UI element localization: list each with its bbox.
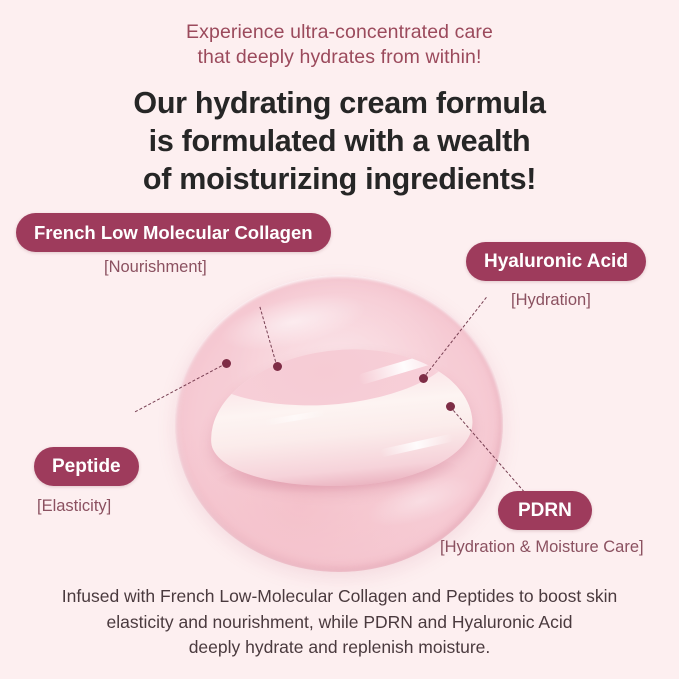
cream-swatch-illustration bbox=[170, 272, 510, 576]
body-copy-line-2: elasticity and nourishment, while PDRN a… bbox=[0, 610, 679, 636]
cream-gloss-highlight-3 bbox=[264, 410, 326, 426]
subheading-line-2: that deeply hydrates from within! bbox=[0, 45, 679, 70]
ingredient-benefit-peptide: [Elasticity] bbox=[37, 497, 111, 516]
cream-gloss-highlight-2 bbox=[380, 434, 454, 458]
connector-dot-collagen bbox=[273, 362, 282, 371]
body-copy: Infused with French Low-Molecular Collag… bbox=[0, 584, 679, 661]
connector-dot-hyaluronic bbox=[419, 374, 428, 383]
subheading-line-1: Experience ultra-concentrated care bbox=[0, 20, 679, 45]
ingredient-pill-hyaluronic-acid[interactable]: Hyaluronic Acid bbox=[466, 242, 646, 281]
body-copy-line-1: Infused with French Low-Molecular Collag… bbox=[0, 584, 679, 610]
headline-line-2: is formulated with a wealth bbox=[0, 122, 679, 160]
ingredient-benefit-collagen: [Nourishment] bbox=[104, 258, 207, 277]
headline: Our hydrating cream formula is formulate… bbox=[0, 84, 679, 198]
ingredient-pill-pdrn[interactable]: PDRN bbox=[498, 491, 592, 530]
ingredient-benefit-hyaluronic-acid: [Hydration] bbox=[511, 291, 591, 310]
headline-line-1: Our hydrating cream formula bbox=[0, 84, 679, 122]
connector-dot-peptide bbox=[222, 359, 231, 368]
ingredient-pill-peptide[interactable]: Peptide bbox=[34, 447, 139, 486]
ingredient-pill-collagen[interactable]: French Low Molecular Collagen bbox=[16, 213, 331, 252]
body-copy-line-3: deeply hydrate and replenish moisture. bbox=[0, 635, 679, 661]
connector-dot-pdrn bbox=[446, 402, 455, 411]
ingredient-benefit-pdrn: [Hydration & Moisture Care] bbox=[440, 538, 644, 557]
infographic-canvas: Experience ultra-concentrated care that … bbox=[0, 0, 679, 679]
headline-line-3: of moisturizing ingredients! bbox=[0, 160, 679, 198]
subheading: Experience ultra-concentrated care that … bbox=[0, 20, 679, 70]
